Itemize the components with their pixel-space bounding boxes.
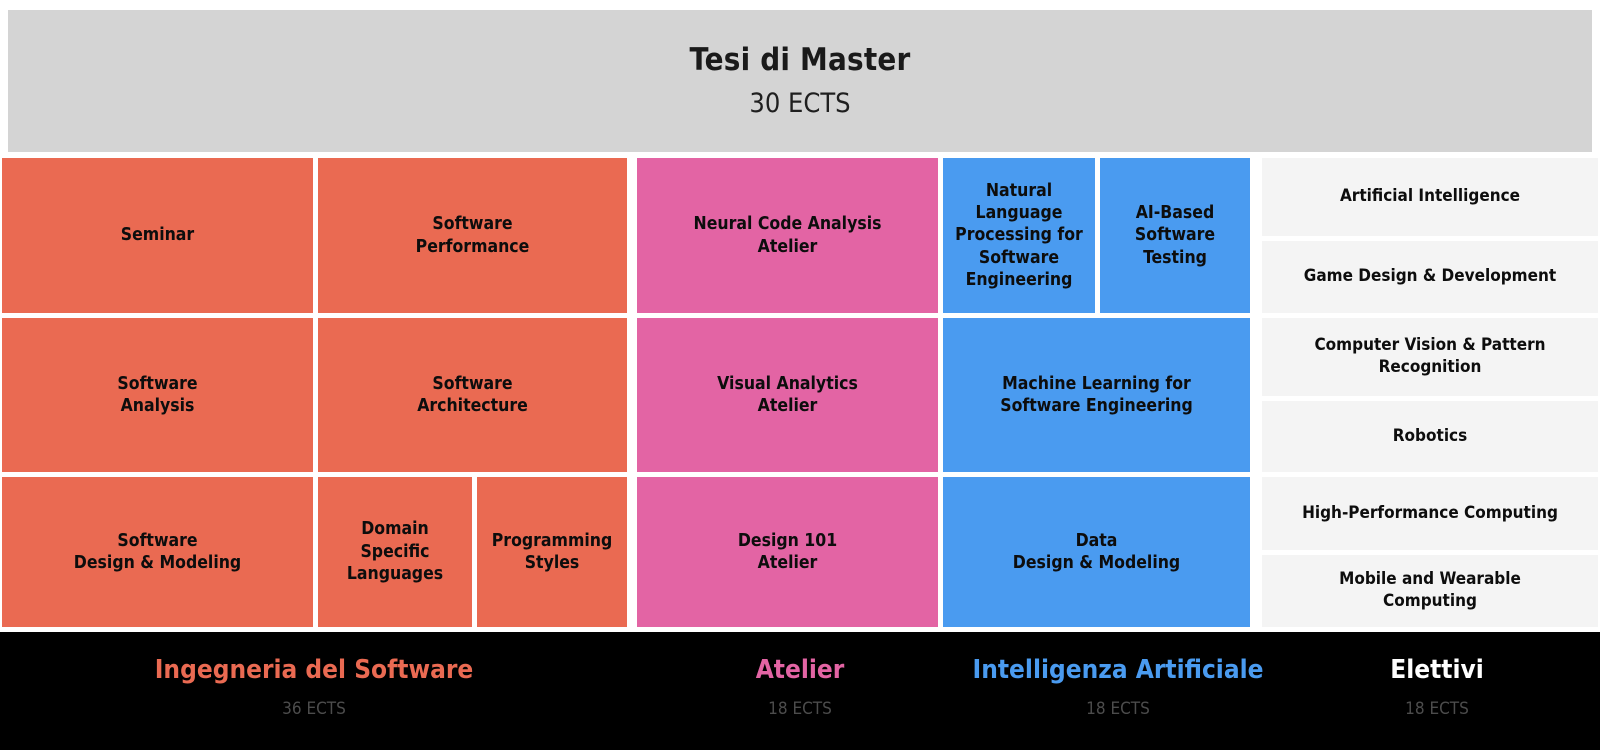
legend-item-intelligenza-artificiale[interactable]: Intelligenza Artificiale18 ECTS <box>973 656 1264 719</box>
course-block-software-architecture[interactable]: Software Architecture <box>318 318 627 472</box>
course-block-neural-code-analysis[interactable]: Neural Code Analysis Atelier <box>637 158 938 313</box>
course-block-game-design-development[interactable]: Game Design & Development <box>1262 241 1598 313</box>
thesis-banner: Tesi di Master 30 ECTS <box>8 10 1592 152</box>
course-block-ai-based-software-testing[interactable]: AI-Based Software Testing <box>1100 158 1250 313</box>
legend-ects-elettivi: 18 ECTS <box>1405 700 1469 719</box>
course-block-design-101[interactable]: Design 101 Atelier <box>637 477 938 627</box>
legend-ects-ingegneria-del-software: 36 ECTS <box>282 700 346 719</box>
course-block-software-design-modeling[interactable]: Software Design & Modeling <box>2 477 313 627</box>
curriculum-diagram: Tesi di Master 30 ECTS SeminarSoftware P… <box>0 0 1600 750</box>
legend-ects-intelligenza-artificiale: 18 ECTS <box>1086 700 1150 719</box>
thesis-ects: 30 ECTS <box>749 89 850 119</box>
course-block-software-performance[interactable]: Software Performance <box>318 158 627 313</box>
track-legend-bar: Ingegneria del Software36 ECTSAtelier18 … <box>0 632 1600 750</box>
course-block-mobile-wearable-computing[interactable]: Mobile and Wearable Computing <box>1262 555 1598 627</box>
course-block-nlp-for-se[interactable]: Natural Language Processing for Software… <box>943 158 1095 313</box>
course-block-ml-for-se[interactable]: Machine Learning for Software Engineerin… <box>943 318 1250 472</box>
course-block-robotics[interactable]: Robotics <box>1262 401 1598 472</box>
legend-item-elettivi[interactable]: Elettivi18 ECTS <box>1390 656 1484 719</box>
course-block-artificial-intelligence[interactable]: Artificial Intelligence <box>1262 158 1598 236</box>
legend-title-intelligenza-artificiale: Intelligenza Artificiale <box>973 656 1264 686</box>
course-block-programming-styles[interactable]: Programming Styles <box>477 477 627 627</box>
course-block-seminar[interactable]: Seminar <box>2 158 313 313</box>
legend-item-ingegneria-del-software[interactable]: Ingegneria del Software36 ECTS <box>155 656 474 719</box>
legend-ects-atelier: 18 ECTS <box>768 700 832 719</box>
legend-title-ingegneria-del-software: Ingegneria del Software <box>155 656 474 686</box>
course-block-high-performance-computing[interactable]: High-Performance Computing <box>1262 477 1598 550</box>
course-block-domain-specific-languages[interactable]: Domain Specific Languages <box>318 477 472 627</box>
legend-item-atelier[interactable]: Atelier18 ECTS <box>756 656 845 719</box>
legend-title-atelier: Atelier <box>756 656 845 686</box>
course-block-data-design-modeling[interactable]: Data Design & Modeling <box>943 477 1250 627</box>
legend-title-elettivi: Elettivi <box>1390 656 1484 686</box>
thesis-title: Tesi di Master <box>690 43 911 79</box>
course-block-software-analysis[interactable]: Software Analysis <box>2 318 313 472</box>
course-block-visual-analytics[interactable]: Visual Analytics Atelier <box>637 318 938 472</box>
course-block-computer-vision[interactable]: Computer Vision & Pattern Recognition <box>1262 318 1598 396</box>
